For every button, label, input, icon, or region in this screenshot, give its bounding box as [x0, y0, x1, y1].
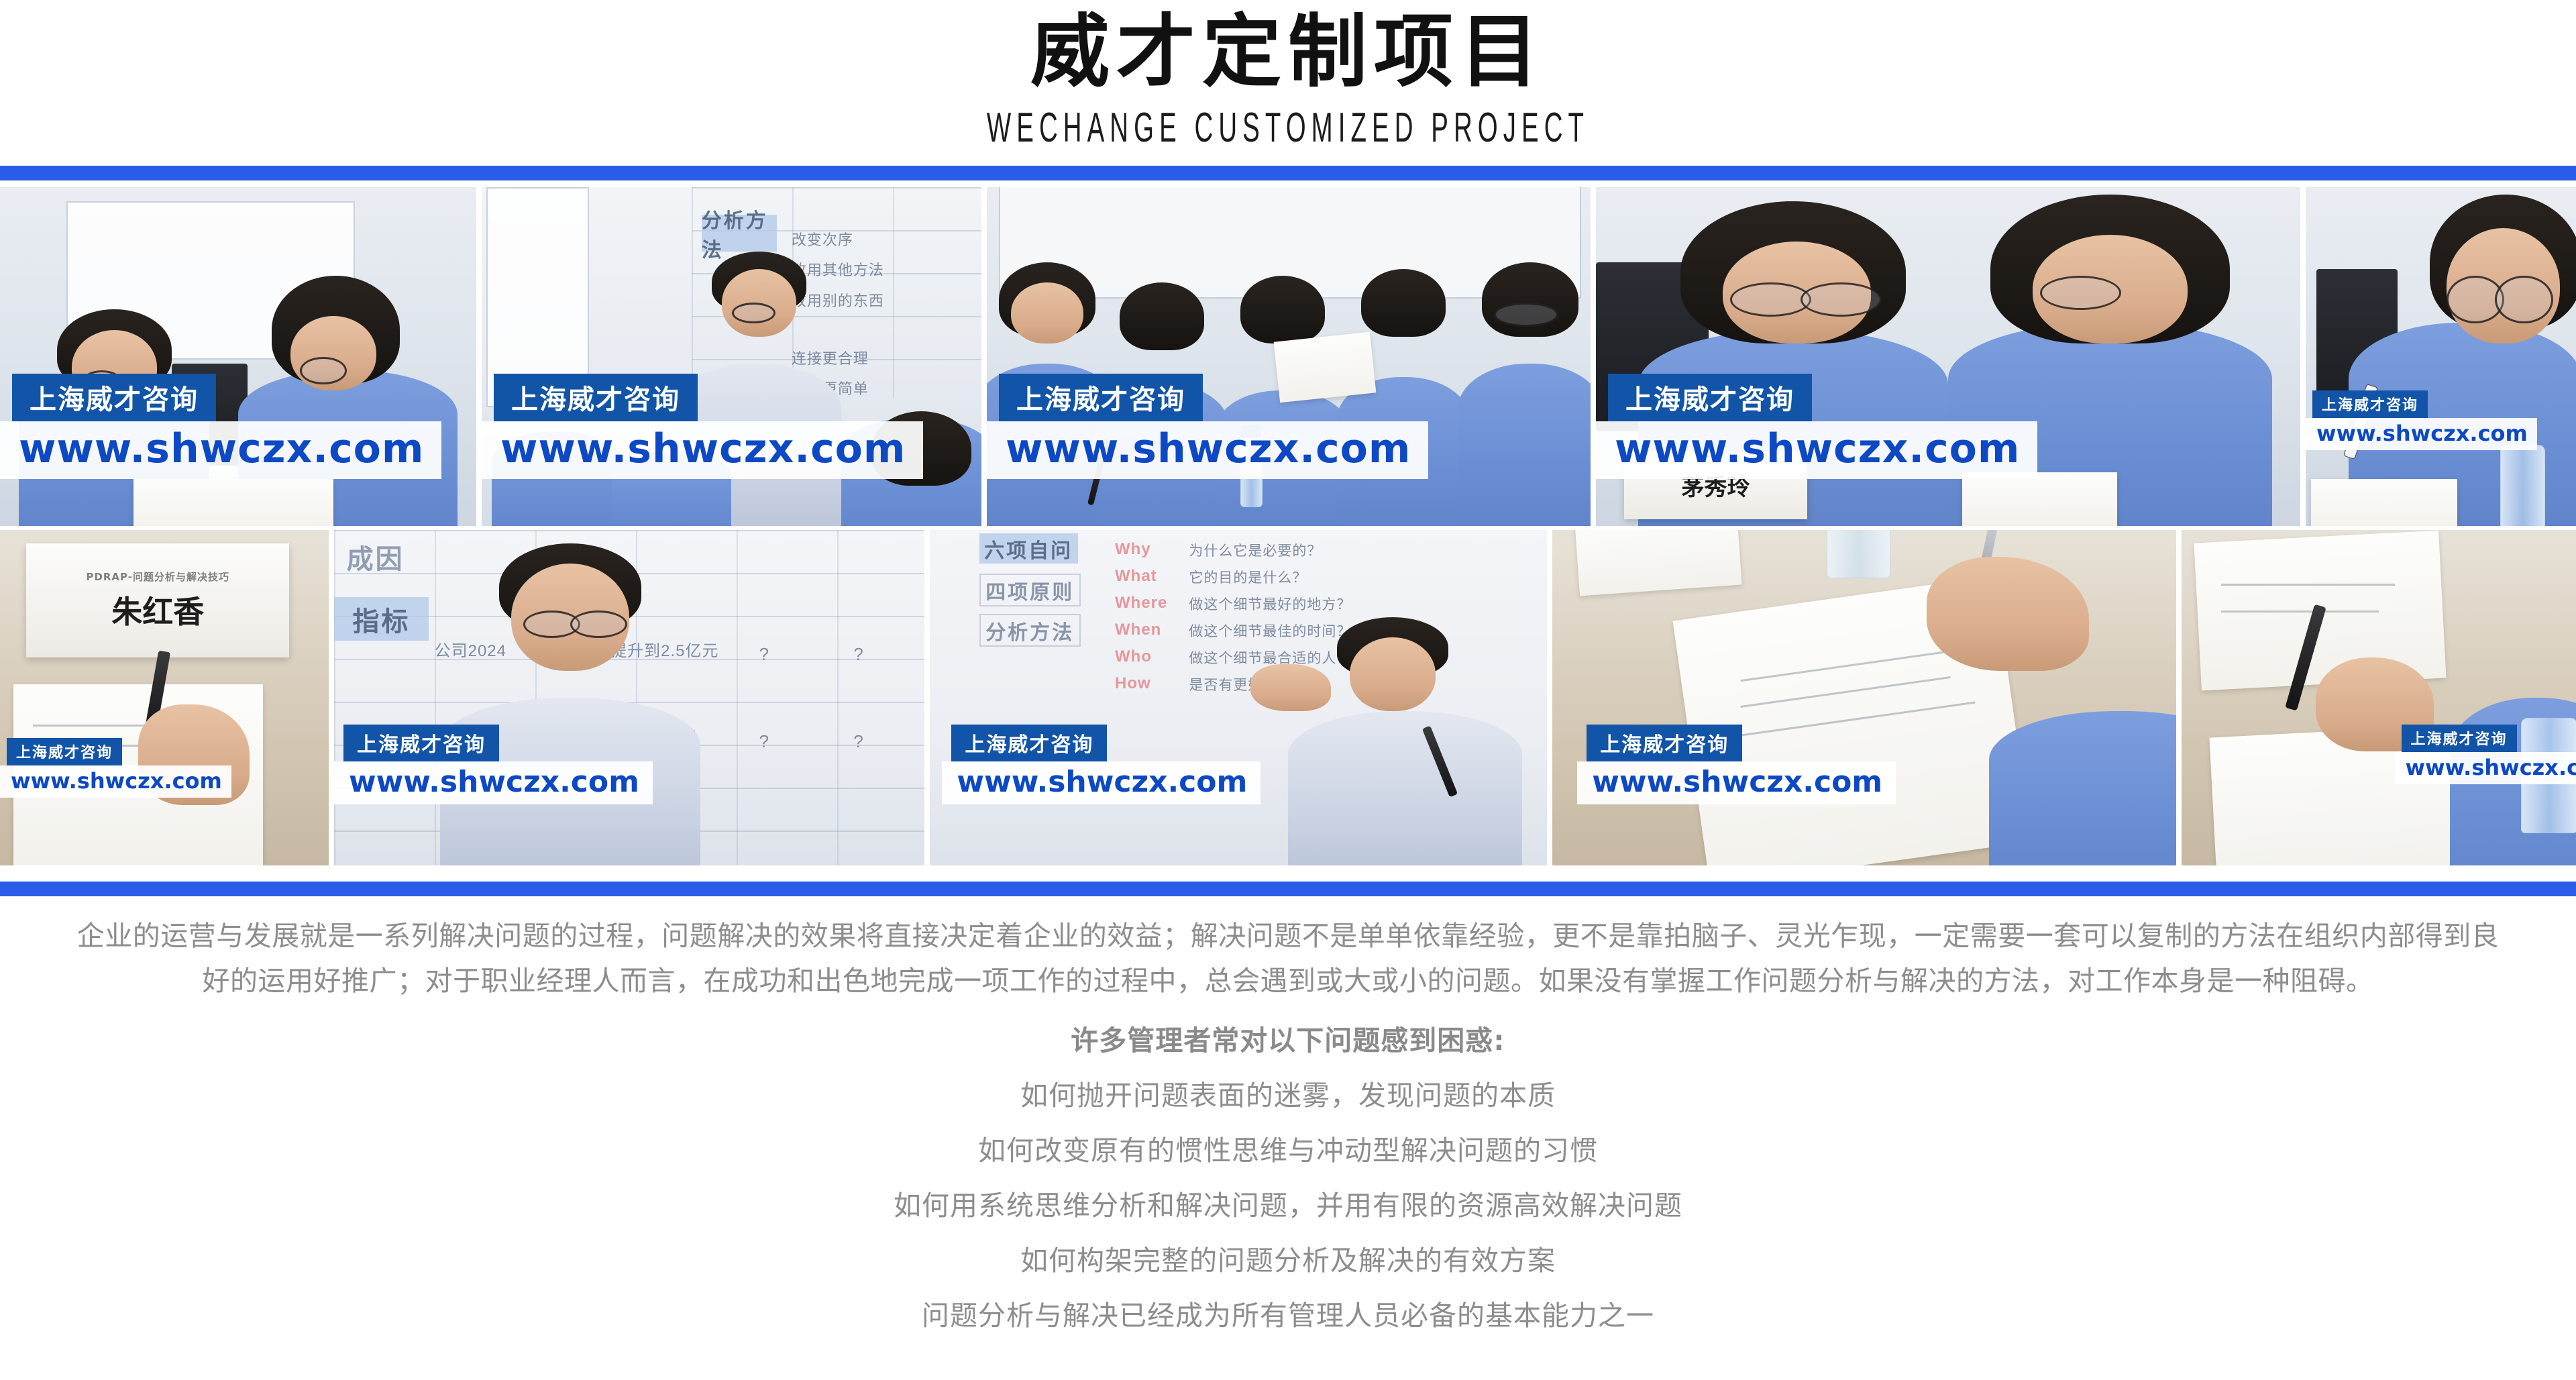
slide-row-key: What [1115, 567, 1157, 586]
watermark-overlay: 上海威才咨询 www.shwczx.com [1596, 374, 2037, 479]
photo-discussion-pair[interactable]: 上海威才咨询 www.shwczx.com [0, 187, 476, 526]
paper-line [2221, 584, 2395, 586]
slide-row-text: 它的目的是什么？ [1189, 567, 1307, 587]
page-header: 威才定制项目 WECHANGE CUSTOMIZED PROJECT [0, 0, 2576, 152]
photo-instructor-metrics[interactable]: 成因 指标 公司2024 元提升到2.5亿元 平均 由12次减少到 ? ? ? … [334, 530, 924, 865]
watermark-overlay: 上海威才咨询 www.shwczx.com [482, 374, 923, 479]
bottle-prop [2500, 445, 2544, 526]
photo-worksheet-pen[interactable]: 上海威才咨询 www.shwczx.com [1552, 530, 2176, 865]
glasses-icon [1801, 282, 1882, 317]
questions-lead: 许多管理者常对以下问题感到困惑: [0, 1018, 2576, 1058]
intro-paragraph: 企业的运营与发展就是一系列解决问题的过程，问题解决的效果将直接决定着企业的效益；… [74, 914, 2502, 1003]
photo-instructor-whiteboard[interactable]: 分析方法 改变次序 改用其他方法 改用别的东西 连接更合理 使之更简单 重排 简… [482, 187, 981, 526]
question-item: 如何构架完整的问题分析及解决的有效方案 [0, 1238, 2576, 1278]
head-shape [1011, 282, 1083, 343]
watermark-tag: 上海威才咨询 [1587, 725, 1742, 761]
watermark-tag: 上海威才咨询 [12, 374, 216, 421]
watermark-overlay: 上海威才咨询 www.shwczx.com [2306, 390, 2537, 450]
name-card: PDRAP-问题分析与解决技巧 朱红香 [26, 543, 289, 657]
photo-two-women-closeup[interactable]: 茅秀玲 上海威才咨询 www.shwczx.com [1596, 187, 2300, 526]
photo-name-card-writing[interactable]: PDRAP-问题分析与解决技巧 朱红香 上海威才咨询 www.shwczx.co… [0, 530, 329, 865]
glasses-icon [2495, 276, 2553, 324]
question-item: 如何抛开问题表面的迷雾，发现问题的本质 [0, 1073, 2576, 1113]
watermark-tag: 上海威才咨询 [951, 725, 1107, 761]
slide-tag-analysis: 分析方法 [702, 215, 777, 252]
slide-cell: 连接更合理 [792, 347, 869, 368]
paper-prop [133, 479, 333, 527]
photo-group-workshop[interactable]: 上海威才咨询 www.shwczx.com [987, 187, 1591, 526]
hand-shape [1250, 664, 1331, 711]
page-title: 威才定制项目 [0, 9, 2576, 95]
paper-line [2221, 611, 2379, 613]
watermark-tag: 上海威才咨询 [2402, 725, 2517, 752]
slide-row-key: How [1115, 674, 1151, 693]
hair-shape [1120, 282, 1204, 350]
slide-row-key: When [1115, 621, 1161, 639]
slide-row-key: Where [1115, 594, 1167, 613]
watermark-url: www.shwczx.com [1577, 761, 1896, 804]
slide-cell-unknown: ? [759, 644, 769, 665]
slide-sidebar-item: 四项原则 [979, 574, 1081, 606]
paper-prop [2311, 479, 2457, 527]
question-item: 如何用系统思维分析和解决问题，并用有限的资源高效解决问题 [0, 1183, 2576, 1223]
slide-sidebar-item: 六项自问 [979, 533, 1078, 564]
slide-row-key: Who [1115, 647, 1152, 666]
body-copy: 企业的运营与发展就是一系列解决问题的过程，问题解决的效果将直接决定着企业的效益；… [0, 896, 2576, 1333]
slide-row-text: 为什么它是必要的？ [1189, 540, 1322, 560]
photo-marker-writing[interactable]: 上海威才咨询 www.shwczx.com [2182, 530, 2576, 865]
photo-writing-trainee[interactable]: 上海威才咨询 www.shwczx.com [2306, 187, 2576, 526]
watermark-overlay: 上海威才咨询 www.shwczx.com [0, 374, 441, 479]
glasses-icon [1730, 282, 1812, 317]
name-card-name: 朱红香 [111, 588, 204, 632]
watermark-url: www.shwczx.com [1596, 421, 2037, 479]
watermark-url: www.shwczx.com [987, 421, 1428, 479]
slide-cell: 公司2024 [435, 637, 506, 661]
bottle-prop [1827, 530, 1890, 578]
head-shape [1350, 637, 1436, 711]
slide-row-text: 做这个细节最好的地方？ [1189, 594, 1351, 614]
slide-row-text: 做这个细节最佳的时间？ [1189, 621, 1351, 641]
person-silhouette [1288, 711, 1523, 865]
hair-shape [1361, 269, 1446, 337]
slide-tag-cause: 成因 [334, 537, 417, 577]
name-card-subtitle: PDRAP-问题分析与解决技巧 [86, 570, 229, 584]
watermark-overlay: 上海威才咨询 www.shwczx.com [2395, 725, 2576, 784]
divider-top [0, 166, 2576, 180]
watermark-url: www.shwczx.com [482, 421, 923, 479]
photo-gallery: 上海威才咨询 www.shwczx.com 分析方法 改变次序 改用其他方法 改… [0, 187, 2576, 865]
watermark-url: www.shwczx.com [942, 761, 1260, 804]
watermark-overlay: 上海威才咨询 www.shwczx.com [942, 725, 1260, 804]
watermark-tag: 上海威才咨询 [999, 374, 1203, 421]
slide-cell-unknown: ? [759, 731, 769, 752]
watermark-url: www.shwczx.com [334, 761, 653, 804]
watermark-overlay: 上海威才咨询 www.shwczx.com [1577, 725, 1896, 804]
watermark-tag: 上海威才咨询 [1608, 374, 1812, 421]
page-subtitle: WECHANGE CUSTOMIZED PROJECT [490, 104, 2087, 152]
slide-cell-unknown: ? [853, 644, 863, 665]
watermark-url: www.shwczx.com [2395, 752, 2576, 784]
watermark-tag: 上海威才咨询 [2312, 390, 2428, 418]
person-silhouette [1989, 711, 2176, 865]
paper-prop [1962, 472, 2117, 527]
notebook-prop [1575, 530, 1742, 596]
watermark-tag: 上海威才咨询 [343, 725, 499, 761]
hair-shape [1240, 276, 1325, 343]
photo-row-1: 上海威才咨询 www.shwczx.com 分析方法 改变次序 改用其他方法 改… [0, 187, 2576, 526]
photo-instructor-5w1h[interactable]: 六项自问 四项原则 分析方法 Why 为什么它是必要的？ What 它的目的是什… [930, 530, 1547, 865]
glasses-icon [2040, 276, 2122, 310]
watermark-overlay: 上海威才咨询 www.shwczx.com [0, 738, 231, 798]
watermark-url: www.shwczx.com [0, 765, 231, 798]
watermark-url: www.shwczx.com [2306, 418, 2537, 450]
question-item: 问题分析与解决已经成为所有管理人员必备的基本能力之一 [0, 1293, 2576, 1333]
person-silhouette [1458, 364, 1591, 526]
slide-row-key: Why [1115, 540, 1151, 559]
slide-cell: 改变次序 [792, 228, 853, 250]
slide-cell-unknown: ? [853, 731, 863, 752]
watermark-tag: 上海威才咨询 [7, 738, 122, 765]
watermark-overlay: 上海威才咨询 www.shwczx.com [334, 725, 653, 804]
slide-tag-metric: 指标 [334, 597, 429, 641]
watermark-overlay: 上海威才咨询 www.shwczx.com [987, 374, 1428, 479]
photo-row-2: PDRAP-问题分析与解决技巧 朱红香 上海威才咨询 www.shwczx.co… [0, 530, 2576, 865]
slide-sidebar-item: 分析方法 [979, 614, 1081, 647]
watermark-tag: 上海威才咨询 [494, 374, 698, 421]
divider-bottom [0, 882, 2576, 896]
question-item: 如何改变原有的惯性思维与冲动型解决问题的习惯 [0, 1128, 2576, 1168]
watermark-url: www.shwczx.com [0, 421, 441, 479]
